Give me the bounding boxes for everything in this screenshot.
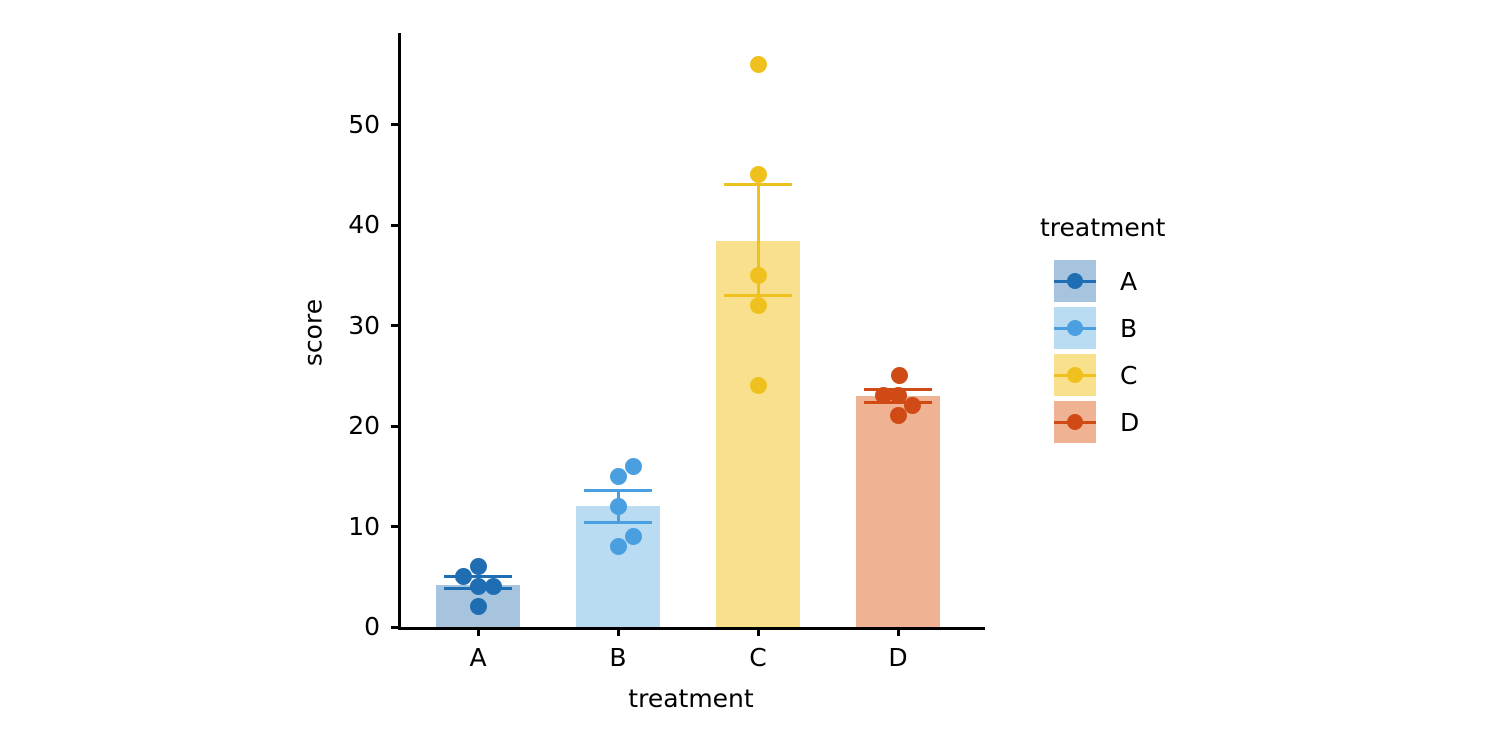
x-tick-label: D bbox=[858, 645, 938, 670]
data-point-b[interactable] bbox=[625, 528, 642, 545]
y-tick-label: 50 bbox=[300, 112, 380, 137]
bar-d[interactable] bbox=[856, 396, 940, 627]
error-cap-b-upper bbox=[584, 489, 652, 492]
data-point-c[interactable] bbox=[750, 297, 767, 314]
x-tick-label: A bbox=[438, 645, 518, 670]
data-point-a[interactable] bbox=[470, 578, 487, 595]
y-tick-mark bbox=[391, 224, 398, 227]
data-point-a[interactable] bbox=[470, 598, 487, 615]
legend-entry-d[interactable]: D bbox=[1040, 401, 1220, 443]
legend-entry-c[interactable]: C bbox=[1040, 354, 1220, 396]
y-tick-mark bbox=[391, 425, 398, 428]
figure-canvas: 01020304050 ABCD score treatment treatme… bbox=[0, 0, 1500, 750]
data-point-b[interactable] bbox=[625, 458, 642, 475]
data-point-c[interactable] bbox=[750, 56, 767, 73]
x-tick-label: B bbox=[578, 645, 658, 670]
data-point-d[interactable] bbox=[890, 407, 907, 424]
legend-swatch-point-icon bbox=[1067, 273, 1083, 289]
y-tick-mark bbox=[391, 525, 398, 528]
x-tick-label: C bbox=[718, 645, 798, 670]
legend-label-a: A bbox=[1120, 269, 1137, 294]
data-point-c[interactable] bbox=[750, 166, 767, 183]
data-point-b[interactable] bbox=[610, 468, 627, 485]
legend-swatch-point-icon bbox=[1067, 320, 1083, 336]
data-point-c[interactable] bbox=[750, 267, 767, 284]
y-tick-mark bbox=[391, 123, 398, 126]
y-axis-title: score bbox=[301, 288, 326, 378]
y-tick-mark bbox=[391, 626, 398, 629]
data-point-a[interactable] bbox=[455, 568, 472, 585]
legend-label-d: D bbox=[1120, 410, 1139, 435]
bar-b[interactable] bbox=[576, 506, 660, 627]
y-tick-label: 20 bbox=[300, 413, 380, 438]
legend-swatch-d bbox=[1054, 401, 1096, 443]
error-cap-c-upper bbox=[724, 183, 792, 186]
data-point-a[interactable] bbox=[470, 558, 487, 575]
data-point-b[interactable] bbox=[610, 538, 627, 555]
x-tick-mark bbox=[757, 629, 760, 636]
legend-entry-b[interactable]: B bbox=[1040, 307, 1220, 349]
legend-label-c: C bbox=[1120, 363, 1137, 388]
legend-swatch-b bbox=[1054, 307, 1096, 349]
legend-swatch-a bbox=[1054, 260, 1096, 302]
legend-swatch-c bbox=[1054, 354, 1096, 396]
x-tick-mark bbox=[897, 629, 900, 636]
data-point-c[interactable] bbox=[750, 377, 767, 394]
legend-title: treatment bbox=[1040, 215, 1165, 240]
y-axis-spine bbox=[398, 33, 401, 629]
x-tick-mark bbox=[477, 629, 480, 636]
y-tick-mark bbox=[391, 324, 398, 327]
x-tick-mark bbox=[617, 629, 620, 636]
legend-label-b: B bbox=[1120, 316, 1137, 341]
data-point-a[interactable] bbox=[485, 578, 502, 595]
y-tick-label: 0 bbox=[300, 614, 380, 639]
legend-entry-a[interactable]: A bbox=[1040, 260, 1220, 302]
legend-swatch-point-icon bbox=[1067, 367, 1083, 383]
legend-swatch-point-icon bbox=[1067, 414, 1083, 430]
data-point-d[interactable] bbox=[875, 387, 892, 404]
y-tick-label: 40 bbox=[300, 212, 380, 237]
data-point-d[interactable] bbox=[891, 367, 908, 384]
data-point-b[interactable] bbox=[610, 498, 627, 515]
legend: treatment ABCD bbox=[1040, 205, 1240, 455]
x-axis-title: treatment bbox=[556, 686, 826, 711]
error-cap-b-lower bbox=[584, 521, 652, 524]
y-tick-label: 10 bbox=[300, 514, 380, 539]
